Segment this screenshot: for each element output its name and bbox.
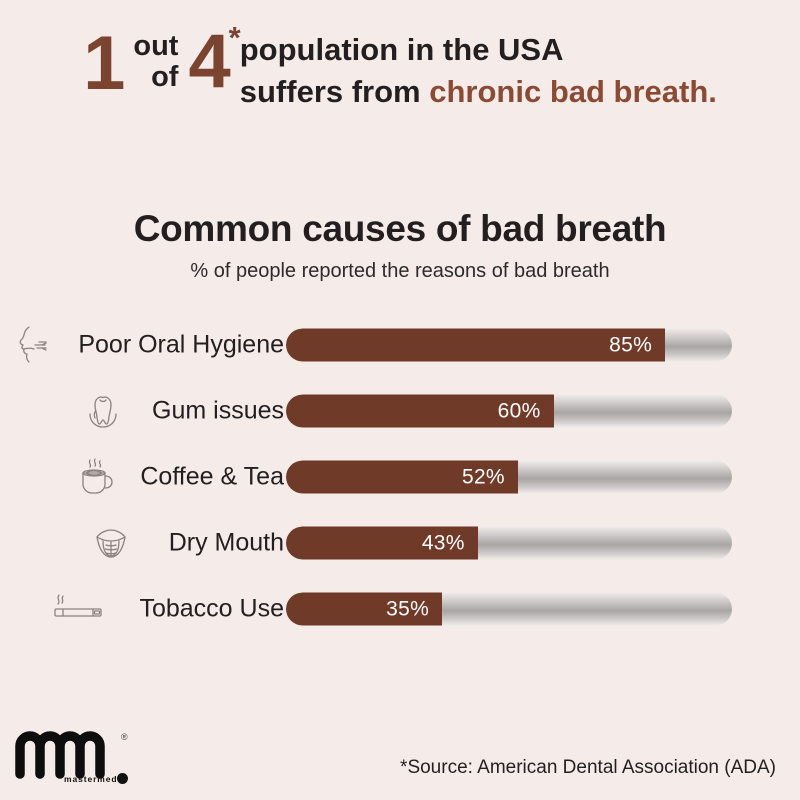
chart-bar-fill: 85% [286,329,665,362]
chart-row-label: Tobacco Use [139,595,284,624]
chart-bar-fill: 52% [286,461,518,494]
headline-banner: 1 out of 4 * population in the USA suffe… [0,26,800,126]
mouth-tongue-icon [88,520,134,566]
logo-wordmark: mastermedi [64,774,121,784]
headline-number-one: 1 [83,28,124,100]
chart-bar-track: 85% [286,329,732,362]
headline-line-1: population in the USA [240,29,717,71]
chart-bar-track: 52% [286,461,732,494]
chart-row: Dry Mouth 43% [0,510,800,576]
chart-title: Common causes of bad breath [0,208,800,250]
chart-bar-value: 43% [422,531,478,555]
breath-face-icon [8,322,54,368]
mastermedi-logo: mastermedi ® [14,730,144,788]
headline-number-four-group: 4 * [188,26,229,98]
chart-bar-value: 60% [498,399,554,423]
chart-bar-track: 35% [286,593,732,626]
chart-row: Gum issues 60% [0,378,800,444]
chart-bar-value: 85% [609,333,665,357]
chart-bar-value: 52% [462,465,518,489]
chart-bar-track: 60% [286,395,732,428]
headline-line-2-plain: suffers from [240,74,429,109]
registered-trademark-icon: ® [121,732,128,742]
chart-row-label: Coffee & Tea [140,463,284,492]
chart-bar-fill: 60% [286,395,554,428]
chart-row-label: Poor Oral Hygiene [78,331,284,360]
headline-line-2: suffers from chronic bad breath. [240,71,717,113]
chart-row-label: Gum issues [152,397,284,426]
coffee-cup-icon [72,454,118,500]
chart-row: Coffee & Tea 52% [0,444,800,510]
chart-row-label: Dry Mouth [169,529,284,558]
tooth-gum-icon [80,388,126,434]
headline-copy: population in the USA suffers from chron… [240,29,717,113]
logo-dot-icon [117,773,128,784]
asterisk-icon: * [229,22,241,53]
chart-row: Tobacco Use 35% [0,576,800,642]
chart-row: Poor Oral Hygiene 85% [0,312,800,378]
bar-chart: Poor Oral Hygiene 85% Gum issues 60% [0,312,800,642]
chart-subtitle: % of people reported the reasons of bad … [0,260,800,283]
chart-bar-value: 35% [386,597,442,621]
chart-bar-track: 43% [286,527,732,560]
headline-out-label: out [133,31,178,62]
headline-of-label: of [151,62,178,93]
cigarette-icon [48,586,110,632]
headline-line-2-accent: chronic bad breath. [429,74,717,109]
chart-bar-fill: 35% [286,593,442,626]
source-attribution: *Source: American Dental Association (AD… [400,757,776,779]
headline-out-of: out of [133,31,178,93]
headline-number-four: 4 [188,26,229,98]
chart-bar-fill: 43% [286,527,478,560]
